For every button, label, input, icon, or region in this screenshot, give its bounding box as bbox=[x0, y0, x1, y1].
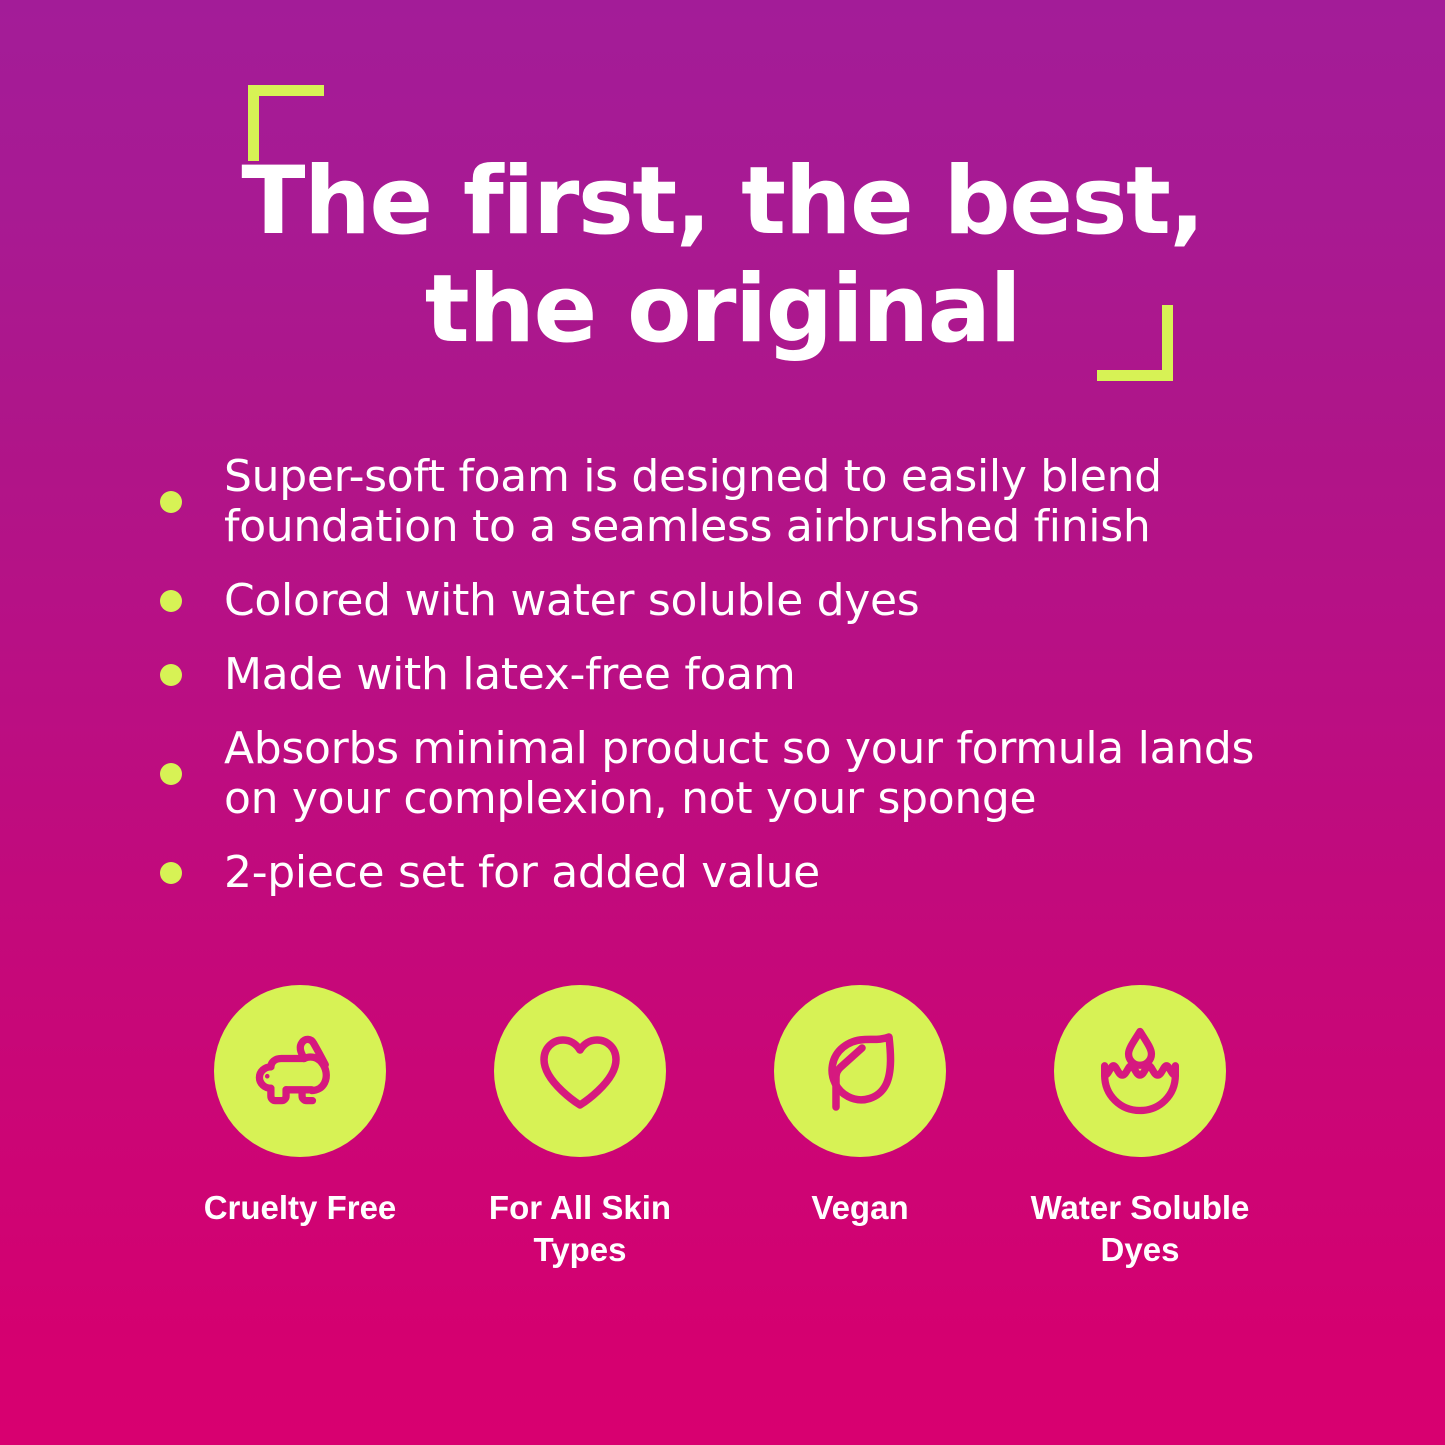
leaf-icon bbox=[810, 1021, 910, 1121]
water-drop-icon bbox=[1088, 1019, 1192, 1123]
badge-cruelty-free: Cruelty Free bbox=[160, 985, 440, 1271]
bullet-dot-icon bbox=[160, 763, 182, 785]
product-feature-poster: The first, the best, the original Super-… bbox=[0, 0, 1445, 1445]
list-item-label: Super-soft foam is designed to easily bl… bbox=[224, 452, 1280, 552]
badge-circle bbox=[214, 985, 386, 1157]
headline-line-1: The first, the best, bbox=[0, 148, 1445, 256]
rabbit-icon bbox=[248, 1019, 352, 1123]
list-item: Made with latex-free foam bbox=[160, 650, 1280, 700]
badge-row: Cruelty Free For All Skin Types Vegan bbox=[160, 985, 1280, 1271]
list-item: Colored with water soluble dyes bbox=[160, 576, 1280, 626]
list-item: 2-piece set for added value bbox=[160, 848, 1280, 898]
badge-circle bbox=[494, 985, 666, 1157]
list-item-label: Colored with water soluble dyes bbox=[224, 576, 919, 626]
list-item-label: Made with latex-free foam bbox=[224, 650, 795, 700]
badge-circle bbox=[774, 985, 946, 1157]
badge-label: For All Skin Types bbox=[460, 1187, 700, 1271]
badge-vegan: Vegan bbox=[720, 985, 1000, 1271]
list-item-label: 2-piece set for added value bbox=[224, 848, 820, 898]
headline-line-2: the original bbox=[0, 256, 1445, 364]
page-title: The first, the best, the original bbox=[0, 148, 1445, 364]
badge-label: Cruelty Free bbox=[204, 1187, 397, 1229]
bullet-dot-icon bbox=[160, 590, 182, 612]
list-item: Super-soft foam is designed to easily bl… bbox=[160, 452, 1280, 552]
heart-icon bbox=[530, 1021, 630, 1121]
badge-label: Vegan bbox=[811, 1187, 908, 1229]
badge-circle bbox=[1054, 985, 1226, 1157]
feature-list: Super-soft foam is designed to easily bl… bbox=[160, 452, 1280, 922]
badge-for-all-skin-types: For All Skin Types bbox=[440, 985, 720, 1271]
list-item-label: Absorbs minimal product so your formula … bbox=[224, 724, 1280, 824]
badge-water-soluble-dyes: Water Soluble Dyes bbox=[1000, 985, 1280, 1271]
list-item: Absorbs minimal product so your formula … bbox=[160, 724, 1280, 824]
bracket-arm-horizontal bbox=[248, 85, 324, 96]
bullet-dot-icon bbox=[160, 664, 182, 686]
bullet-dot-icon bbox=[160, 491, 182, 513]
badge-label: Water Soluble Dyes bbox=[1020, 1187, 1260, 1271]
bullet-dot-icon bbox=[160, 862, 182, 884]
